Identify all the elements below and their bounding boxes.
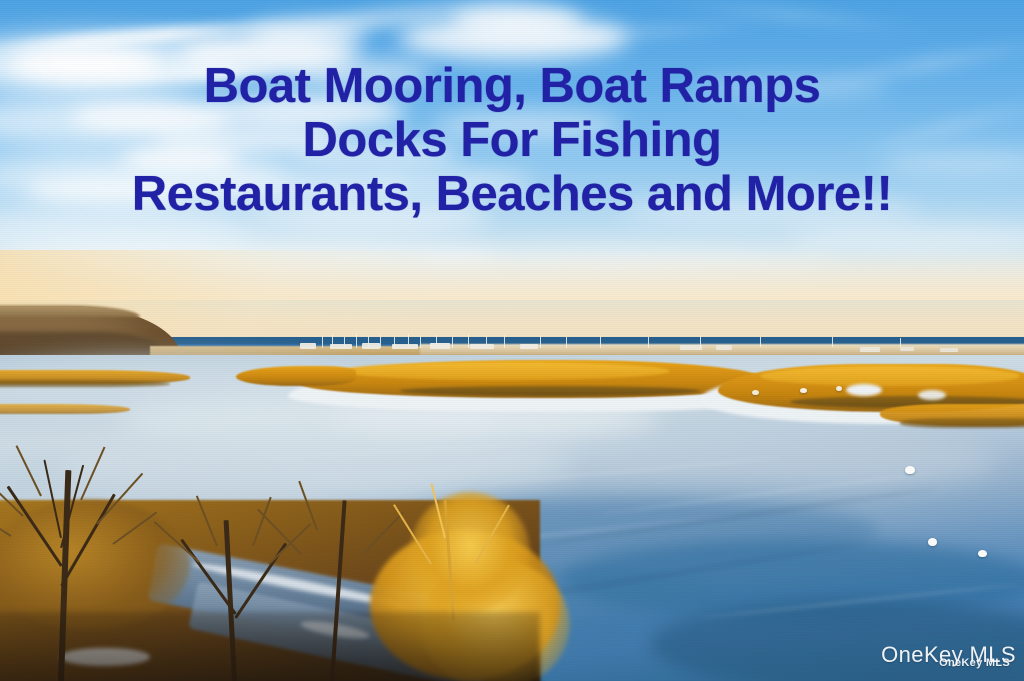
shore-building — [900, 347, 914, 351]
swan — [836, 386, 842, 391]
cloud — [690, 76, 890, 98]
marsh-highlight — [760, 366, 1020, 386]
shore-building — [300, 343, 316, 349]
marsh-shadow — [900, 418, 1024, 428]
cloud — [620, 196, 920, 226]
sailboat-mast — [420, 336, 421, 348]
sailboat-mast — [760, 337, 761, 347]
marsh-shadow — [0, 380, 170, 387]
shore-building — [430, 343, 450, 349]
sailboat-mast — [322, 336, 323, 348]
marsh-shadow — [400, 386, 700, 396]
cloud — [10, 48, 160, 82]
sailboat-mast — [540, 336, 541, 348]
marsh-ice-patch — [918, 390, 946, 400]
shore-building — [860, 347, 880, 352]
shore-building — [940, 348, 958, 352]
sailboat-mast — [356, 333, 357, 348]
shore-building — [716, 345, 732, 350]
shore-building — [330, 344, 352, 349]
swan — [905, 466, 915, 474]
shore-building — [362, 343, 380, 349]
marsh-ice-patch — [846, 384, 882, 396]
cloud — [250, 200, 490, 234]
cloud — [292, 60, 432, 86]
cloud — [432, 110, 622, 140]
cloud — [452, 6, 582, 34]
cloud — [372, 170, 532, 196]
sailboat-mast — [566, 337, 567, 348]
listing-photo: Boat Mooring, Boat Ramps Docks For Fishi… — [0, 0, 1024, 681]
sailboat-mast — [452, 337, 453, 348]
swan — [928, 538, 937, 546]
sailboat-mast — [504, 335, 505, 348]
sailboat-mast — [900, 338, 901, 347]
marsh-highlight — [340, 362, 670, 380]
cloud — [26, 176, 196, 204]
shore-building — [680, 345, 702, 350]
marsh-island — [236, 366, 356, 386]
sailboat-mast — [832, 337, 833, 347]
golden-tree-canopy — [410, 492, 530, 612]
shore-building — [470, 344, 494, 349]
cloud — [246, 22, 366, 48]
sailboat-mast — [648, 337, 649, 348]
sailboat-mast — [468, 334, 469, 348]
swan — [978, 550, 987, 557]
swan — [752, 390, 759, 395]
understory-shadow — [0, 612, 540, 681]
shore-building — [392, 344, 418, 349]
cloud — [290, 140, 460, 168]
watermark-secondary: OneKey MLS — [881, 657, 1010, 669]
watermark: OneKey MLS OneKey MLS — [881, 644, 1016, 669]
sailboat-mast — [600, 336, 601, 348]
sailboat-mast — [380, 335, 381, 348]
marsh-island — [0, 404, 130, 414]
swan — [800, 388, 807, 393]
shore-building — [520, 344, 538, 349]
